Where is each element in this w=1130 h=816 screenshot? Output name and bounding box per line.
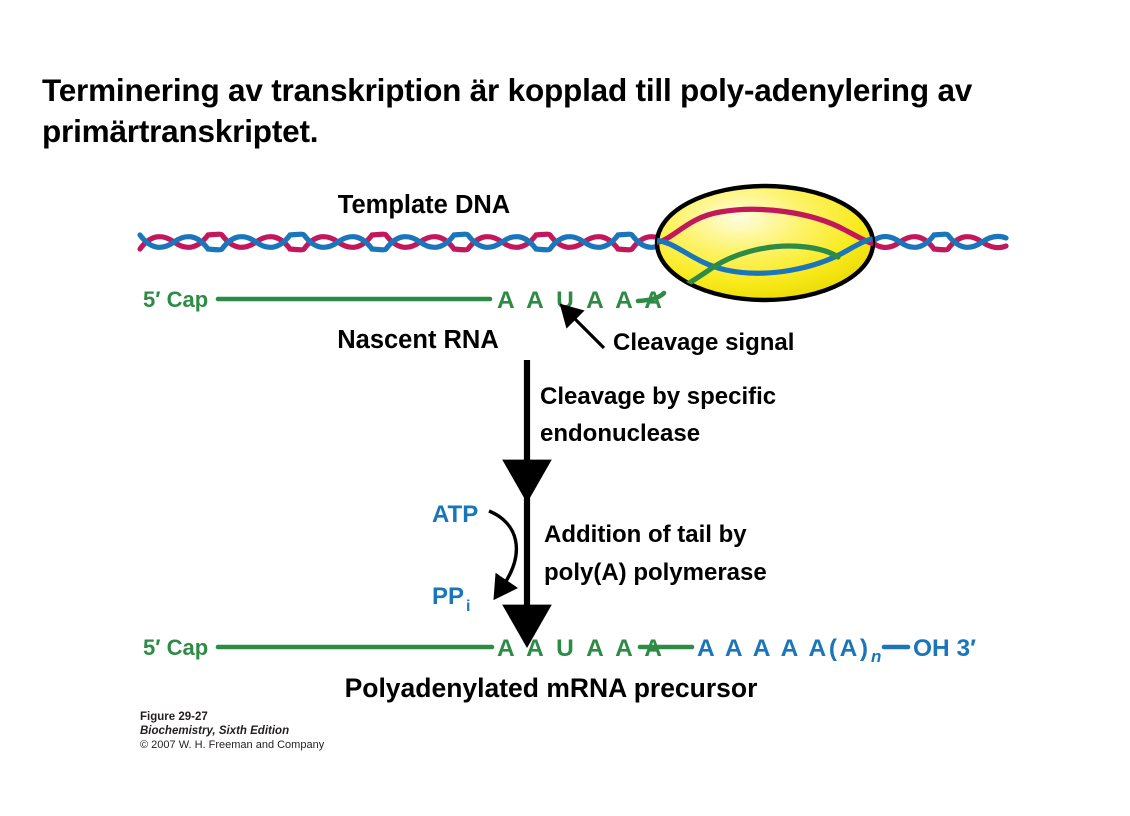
- step2-label-line2: poly(A) polymerase: [544, 559, 767, 586]
- cleavage-signal-label: Cleavage signal: [613, 329, 794, 356]
- nascent-rna-label: Nascent RNA: [337, 326, 499, 354]
- svg-text:n: n: [871, 647, 881, 666]
- template-dna-label: Template DNA: [338, 191, 510, 219]
- step2-label-line1: Addition of tail by: [544, 521, 747, 548]
- figure-diagram: Template DNA: [0, 0, 1130, 816]
- atp-label: ATP: [432, 501, 478, 528]
- template-dna-helix-right: [866, 234, 1006, 250]
- rna-polymerase-bubble: [648, 186, 882, 302]
- figure-source: Biochemistry, Sixth Edition: [140, 724, 324, 738]
- five-prime-cap-bottom: 5′ Cap: [143, 635, 208, 660]
- five-prime-cap-top: 5′ Cap: [143, 287, 208, 312]
- product-label: Polyadenylated mRNA precursor: [345, 673, 758, 703]
- three-prime-end-label: OH 3′: [913, 635, 976, 662]
- slide-canvas: Terminering av transkription är kopplad …: [0, 0, 1130, 816]
- figure-credit: Figure 29-27 Biochemistry, Sixth Edition…: [140, 710, 324, 752]
- template-dna-helix-left: [140, 234, 666, 250]
- figure-copyright: © 2007 W. H. Freeman and Company: [140, 738, 324, 752]
- svg-text:PP: PP: [432, 583, 464, 610]
- polya-tail: A A A A A(A) n: [697, 635, 881, 666]
- step1-label-line1: Cleavage by specific: [540, 383, 776, 410]
- svg-text:A A A A A(A): A A A A A(A): [697, 635, 871, 662]
- svg-text:i: i: [466, 598, 470, 615]
- cleavage-signal-arrow: [571, 315, 604, 348]
- step1-label-line2: endonuclease: [540, 420, 700, 447]
- ppi-label: PP i: [432, 583, 470, 615]
- atp-to-ppi-curved-arrow: [489, 511, 516, 586]
- figure-number: Figure 29-27: [140, 710, 324, 724]
